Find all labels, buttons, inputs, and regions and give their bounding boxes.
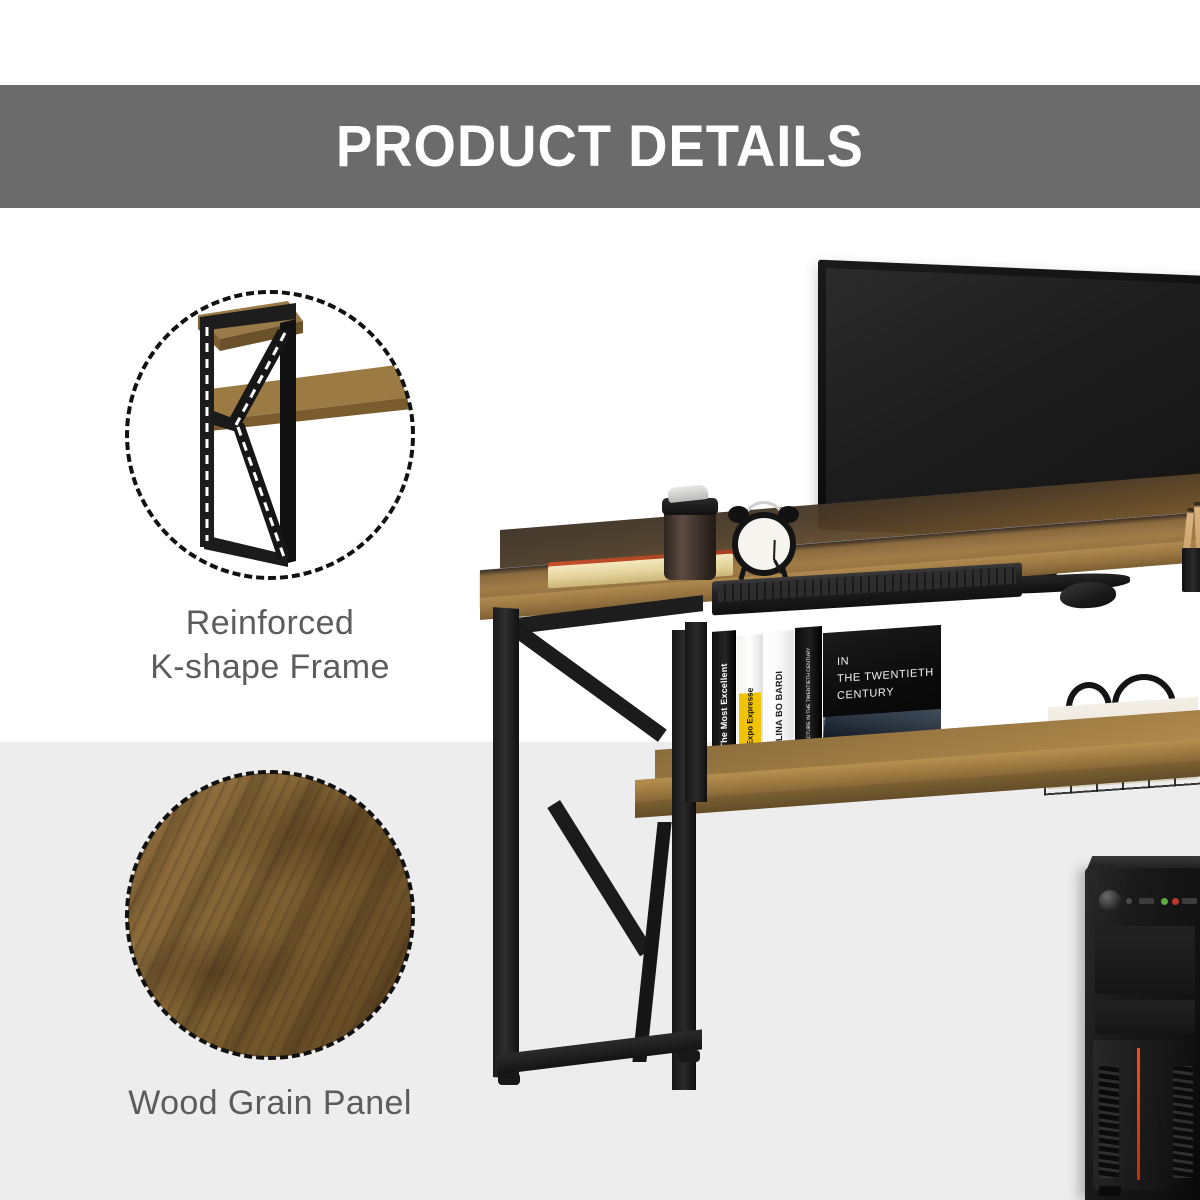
tower-foot [1099,1186,1121,1196]
tower-vent-left [1099,1066,1119,1178]
book-spine-title: LINA BO BARDI [774,671,784,742]
clock-face [732,512,796,576]
tower-accent-stripe [1137,1048,1140,1180]
tower-vent-right [1173,1066,1193,1178]
pencil-holder [1182,548,1200,592]
book-spine-title: Expo Express [746,692,755,746]
mic-in-jack-icon[interactable] [1172,898,1179,905]
alarm-clock [728,502,800,574]
pc-tower [1085,868,1200,1200]
frame-post-right [685,622,707,802]
product-details-page: PRODUCT DETAILS [0,0,1200,1200]
desk-foot-glide [498,1073,520,1085]
k-frame-brace-upper [504,618,667,742]
drive-bay [1095,1000,1195,1034]
clock-minute-hand [773,540,776,560]
callout-caption-line-1: Wood Grain Panel [100,1082,440,1126]
callout-caption: Reinforced K-shape Frame [100,602,440,689]
drive-bay [1095,926,1195,994]
callout-circle-frame [125,290,415,580]
power-button-icon[interactable] [1099,890,1121,912]
book-accent-block: Expo Express [739,692,761,746]
audio-out-jack-icon[interactable] [1161,898,1168,905]
callout-dashed-border [125,770,415,1060]
callout-dashed-border [125,290,415,580]
book-cover-title: IN THE TWENTIETH CENTURY [837,647,934,705]
usb-port-icon[interactable] [1182,898,1197,904]
k-frame-brace-lower [547,800,652,956]
desk-leg-front [493,607,519,1079]
callout-caption: Wood Grain Panel [100,1082,440,1126]
product-details-banner: PRODUCT DETAILS [0,85,1200,208]
shaker-bottle [662,482,718,580]
page-title: PRODUCT DETAILS [336,113,864,180]
status-led-icon [1126,898,1132,904]
callout-wood-grain-panel: Wood Grain Panel [100,770,440,1126]
usb-port-icon[interactable] [1139,898,1154,904]
callout-caption-line-1: Reinforced [100,602,440,646]
callout-circle-frame [125,770,415,1060]
callout-reinforced-k-shape-frame: Reinforced K-shape Frame [100,290,440,689]
book-spine-title: The Most Excellent [719,663,729,749]
callout-caption-line-2: K-shape Frame [100,646,440,690]
bottle-body [664,508,716,580]
desk-product-photo: The Most Excellent Furniture Expo Expres… [440,230,1200,1200]
desk-foot-glide [678,1050,700,1062]
